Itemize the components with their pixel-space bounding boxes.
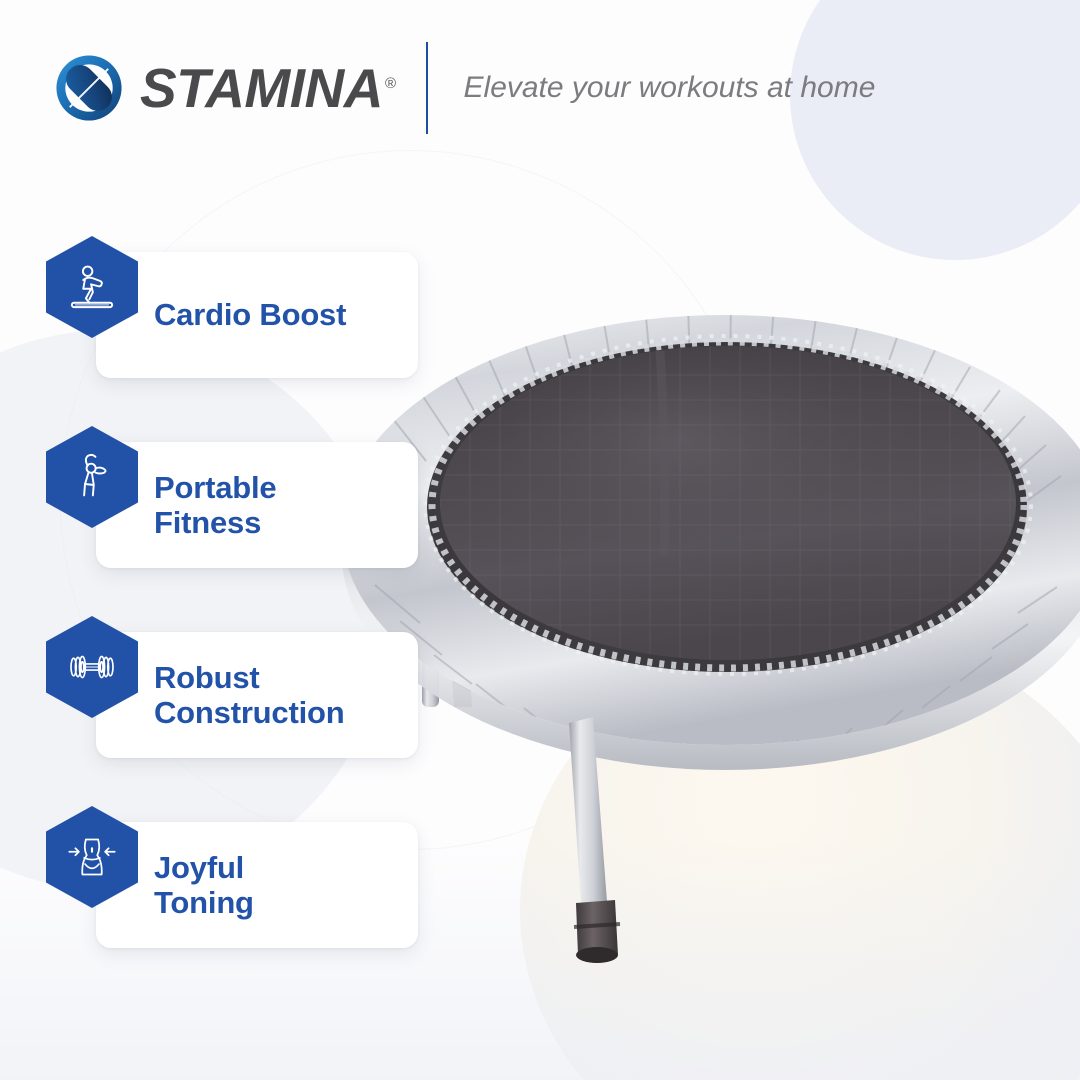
feature-item-cardio-boost: Cardio Boost <box>0 236 430 388</box>
stamina-circle-emblem-icon <box>52 51 126 125</box>
feature-label: PortableFitness <box>154 470 276 540</box>
feature-item-robust-construction: RobustConstruction <box>0 616 430 768</box>
feature-label-line1: Portable <box>154 470 276 505</box>
feature-card: Cardio Boost <box>96 252 418 378</box>
header-divider <box>426 42 428 134</box>
dumbbell-icon <box>64 639 120 695</box>
product-image-trampoline <box>330 255 1080 1015</box>
feature-label: JoyfulToning <box>154 850 254 920</box>
feature-card: PortableFitness <box>96 442 418 568</box>
feature-label-line2: Construction <box>154 695 344 730</box>
slim-waist-arrows-icon <box>64 829 120 885</box>
feature-label-line1: Robust <box>154 660 260 695</box>
feature-label: RobustConstruction <box>154 660 344 730</box>
marketing-banner: STAMINA® Elevate your workouts at home C… <box>0 0 1080 1080</box>
feature-label-line2: Toning <box>154 885 254 920</box>
brand-header: STAMINA® Elevate your workouts at home <box>52 38 875 138</box>
feature-card: JoyfulToning <box>96 822 418 948</box>
person-jumping-on-trampoline-icon <box>64 259 120 315</box>
mat-seam <box>660 351 665 555</box>
feature-list: Cardio Boost PortableFitness <box>0 236 430 958</box>
feature-label: Cardio Boost <box>154 297 346 332</box>
person-stretching-icon <box>64 449 120 505</box>
brand-name-text: STAMINA <box>140 57 383 119</box>
brand-wordmark: STAMINA® <box>140 56 396 120</box>
brand-tagline: Elevate your workouts at home <box>464 71 876 105</box>
registered-trademark-symbol: ® <box>385 75 396 92</box>
feature-item-joyful-toning: JoyfulToning <box>0 806 430 958</box>
feature-card: RobustConstruction <box>96 632 418 758</box>
feature-item-portable-fitness: PortableFitness <box>0 426 430 578</box>
feature-label-line2: Fitness <box>154 505 261 540</box>
feature-label-line1: Joyful <box>154 850 244 885</box>
